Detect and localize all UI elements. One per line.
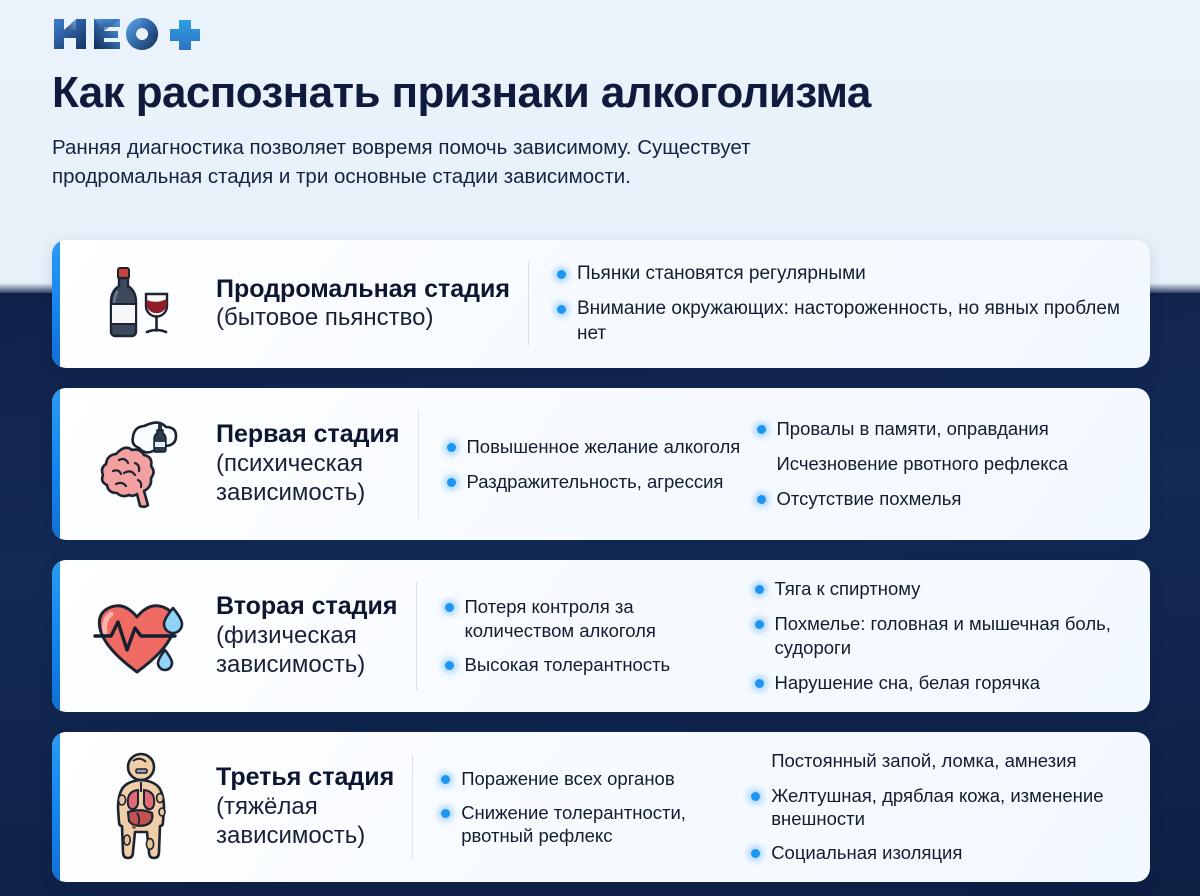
- brand-logo: [52, 0, 1152, 56]
- stage-subtitle-line-2: зависимость): [216, 479, 400, 508]
- bullet-item: Нарушение сна, белая горячка: [753, 671, 1133, 695]
- bullet-item: Повышенное желание алкоголя: [445, 435, 745, 459]
- bullet-item: Пьянки становятся регулярными: [555, 262, 1132, 287]
- header: Как распознать признаки алкоголизма Ранн…: [52, 0, 1152, 191]
- stage-card-body: Поражение всех органов Снижение толерант…: [413, 732, 1150, 882]
- stage-card-head: Третья стадия (тяжёлая зависимость): [52, 732, 412, 882]
- stage-card-head: Вторая стадия (физическая зависимость): [52, 560, 416, 712]
- stage-subtitle-line-2: зависимость): [216, 651, 398, 680]
- bullet-item: Потеря контроля за количеством алкоголя: [443, 595, 743, 643]
- bullet-column: Поражение всех органов Снижение толерант…: [439, 767, 739, 848]
- stage-title-block: Первая стадия (психическая зависимость): [200, 420, 418, 507]
- page-title: Как распознать признаки алкоголизма: [52, 68, 1152, 117]
- stage-icon-wrap: [82, 752, 200, 862]
- bullet-item: Тяга к спиртному: [753, 577, 1133, 601]
- wine-bottle-and-glass-icon: [99, 262, 183, 346]
- bullet-item: Постоянный запой, ломка, амнезия: [749, 749, 1132, 772]
- stage-card-body: Повышенное желание алкоголя Раздражитель…: [419, 388, 1151, 540]
- page-subtitle-line-1: Ранняя диагностика позволяет вовремя пом…: [52, 133, 1082, 162]
- stage-icon-wrap: [82, 418, 200, 510]
- bullet-item: Высокая толерантность: [443, 653, 743, 677]
- stage-subtitle-line-1: (тяжёлая: [216, 793, 394, 822]
- bullet-item: Поражение всех органов: [439, 767, 739, 790]
- stage-icon-wrap: [82, 592, 200, 680]
- stage-name: Вторая стадия: [216, 592, 398, 622]
- stage-card-body: Пьянки становятся регулярными Внимание о…: [529, 240, 1150, 368]
- stage-subtitle-line-1: (психическая: [216, 450, 400, 479]
- stage-card: Вторая стадия (физическая зависимость) П…: [52, 560, 1150, 712]
- neo-plus-logo-icon: [52, 16, 202, 52]
- bullet-item: Похмелье: головная и мышечная боль, судо…: [753, 612, 1133, 660]
- bullet-item: Снижение толерантности, рвотный рефлекс: [439, 801, 739, 848]
- bullet-item: Исчезновение рвотного рефлекса: [755, 452, 1133, 476]
- stage-card-head: Первая стадия (психическая зависимость): [52, 388, 418, 540]
- bullet-item: Социальная изоляция: [749, 841, 1132, 864]
- stage-subtitle-line-1: (физическая: [216, 622, 398, 651]
- bullet-item: Провалы в памяти, оправдания: [755, 417, 1133, 441]
- stage-subtitle: (тяжёлая зависимость): [216, 793, 394, 851]
- stage-icon-wrap: [82, 262, 200, 346]
- stage-card-body: Потеря контроля за количеством алкоголя …: [417, 560, 1151, 712]
- page-subtitle-line-2: продромальная стадия и три основные стад…: [52, 162, 1082, 191]
- stage-title-block: Продромальная стадия (бытовое пьянство): [200, 275, 528, 333]
- stage-name: Первая стадия: [216, 420, 400, 450]
- stage-title-block: Третья стадия (тяжёлая зависимость): [200, 763, 412, 850]
- bullet-column: Постоянный запой, ломка, амнезия Желтушн…: [749, 749, 1132, 864]
- stage-name: Третья стадия: [216, 763, 394, 793]
- stage-card: Третья стадия (тяжёлая зависимость) Пора…: [52, 732, 1150, 882]
- stage-subtitle: (физическая зависимость): [216, 622, 398, 680]
- stage-title-block: Вторая стадия (физическая зависимость): [200, 592, 416, 679]
- bullet-item: Желтушная, дряблая кожа, изменение внешн…: [749, 784, 1132, 831]
- bullet-column: Потеря контроля за количеством алкоголя …: [443, 595, 743, 678]
- bullet-column: Провалы в памяти, оправдания Исчезновени…: [755, 417, 1133, 511]
- bullet-column: Пьянки становятся регулярными Внимание о…: [555, 262, 1132, 347]
- stage-name: Продромальная стадия: [216, 275, 510, 305]
- bullet-item: Внимание окружающих: настороженность, но…: [555, 297, 1132, 346]
- brain-with-bottle-thought-icon: [94, 418, 188, 510]
- bullet-column: Повышенное желание алкоголя Раздражитель…: [445, 435, 745, 494]
- stage-subtitle: (бытовое пьянство): [216, 304, 510, 333]
- human-body-organs-icon: [100, 752, 182, 862]
- stage-card-list: Продромальная стадия (бытовое пьянство) …: [52, 240, 1150, 882]
- stage-card: Первая стадия (психическая зависимость) …: [52, 388, 1150, 540]
- bullet-item: Отсутствие похмелья: [755, 487, 1133, 511]
- heart-with-pulse-icon: [93, 592, 189, 680]
- bullet-item: Раздражительность, агрессия: [445, 470, 745, 494]
- bullet-column: Тяга к спиртному Похмелье: головная и мы…: [753, 577, 1133, 694]
- stage-subtitle: (психическая зависимость): [216, 450, 400, 508]
- stage-card-head: Продромальная стадия (бытовое пьянство): [52, 240, 528, 368]
- stage-subtitle-line-2: зависимость): [216, 822, 394, 851]
- page-subtitle: Ранняя диагностика позволяет вовремя пом…: [52, 133, 1082, 191]
- stage-card: Продромальная стадия (бытовое пьянство) …: [52, 240, 1150, 368]
